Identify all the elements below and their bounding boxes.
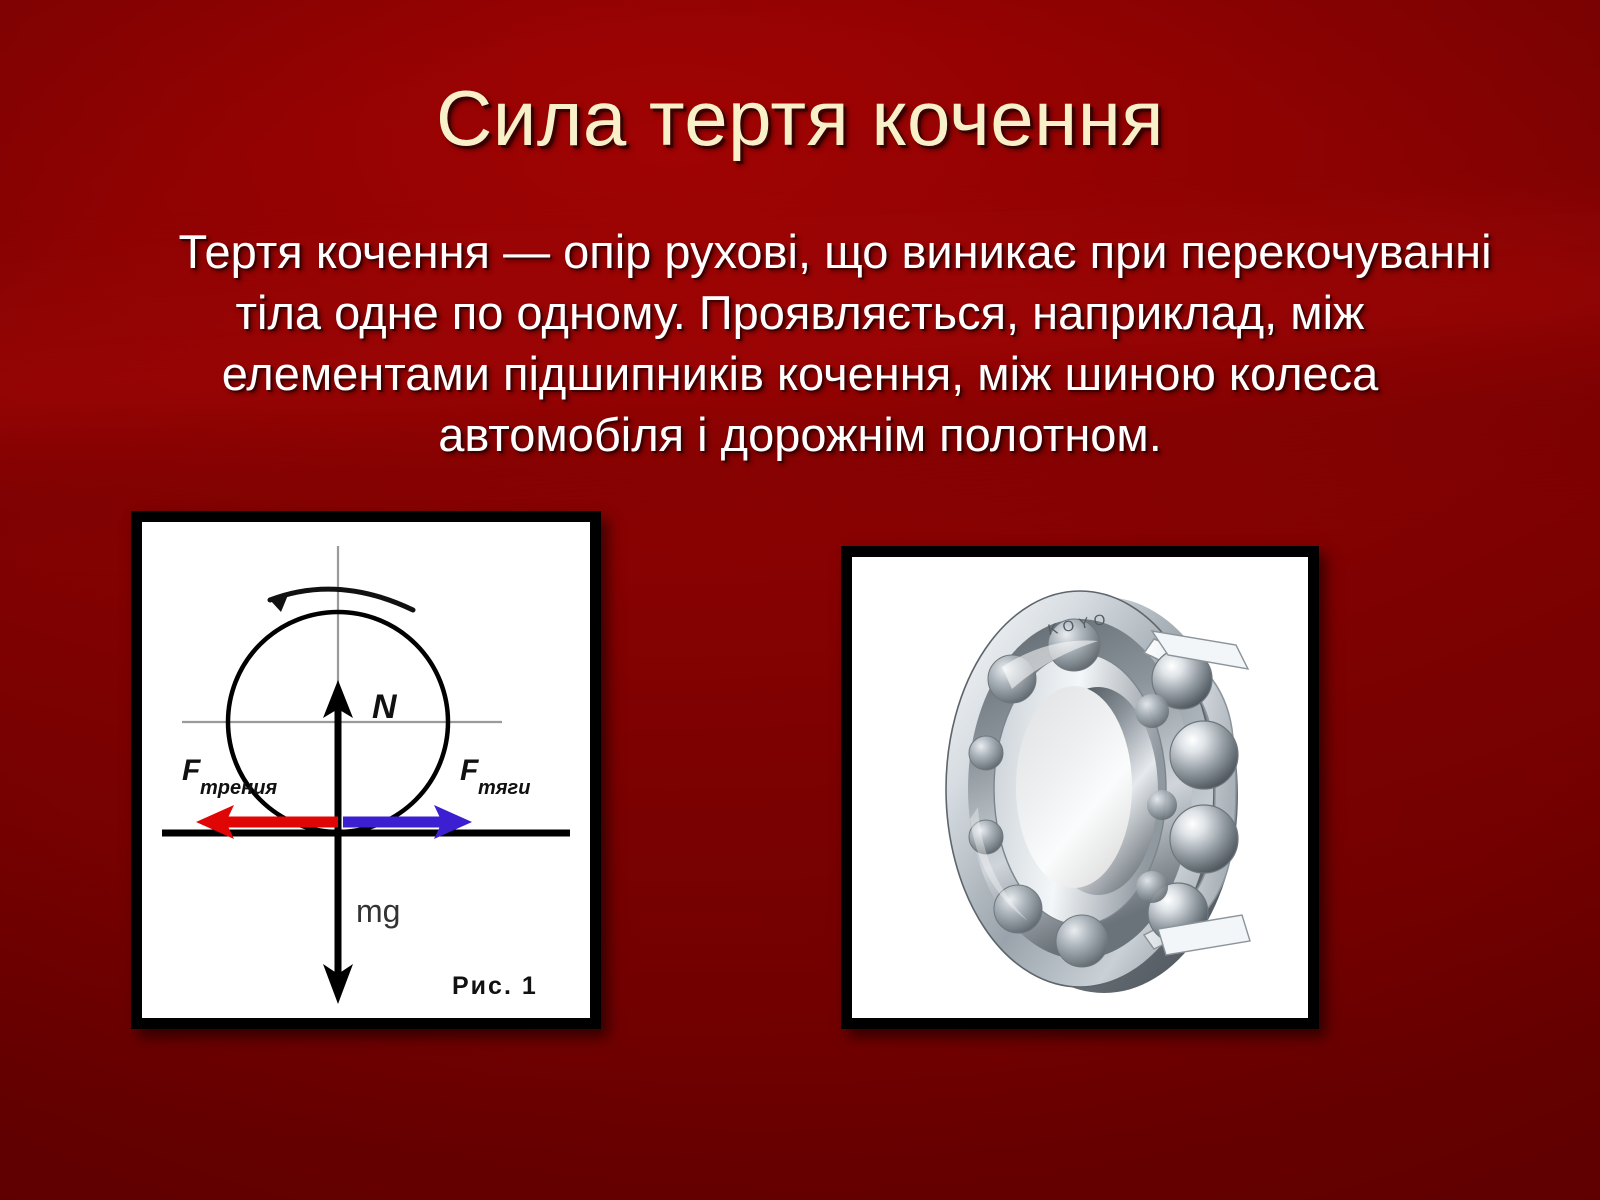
bearing-photo: KOYO [852,557,1308,1018]
traction-label-subscript: тяги [478,777,530,799]
friction-label-base: F [182,754,201,787]
slide-root: Сила тертя кочення Тертя кочення — опір … [0,0,1600,1200]
bearing-ball [1170,721,1238,789]
bearing-canvas: KOYO [852,557,1308,1018]
body-paragraph: Тертя кочення — опір рухові, що виникає … [96,221,1504,465]
figure-force-diagram: N mg F трения F тяги Рис. 1 [131,511,601,1029]
figure-caption: Рис. 1 [452,972,538,1000]
figure-ball-bearing: KOYO [841,546,1319,1029]
friction-label-subscript: трения [200,777,277,799]
force-diagram-canvas: N mg F трения F тяги Рис. 1 [142,522,590,1018]
bearing-ball [1170,805,1238,873]
diagram-background [142,522,590,1018]
weight-label: mg [356,893,400,929]
page-title: Сила тертя кочення [0,78,1600,160]
normal-force-label: N [372,688,398,726]
traction-label-base: F [460,754,479,787]
